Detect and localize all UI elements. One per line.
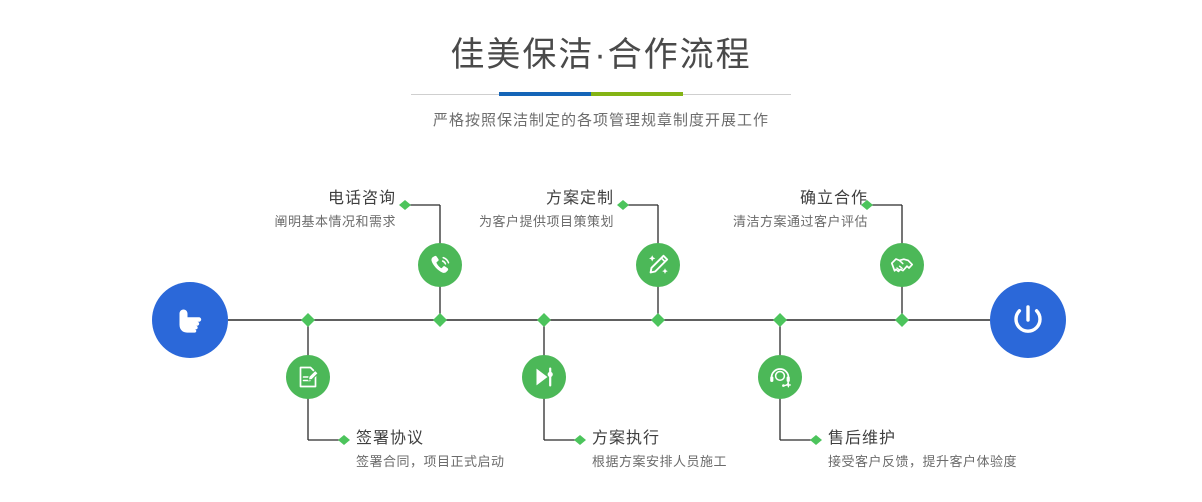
- label-step-4-title: 方案执行: [592, 428, 727, 450]
- marker-step-2-axis: [301, 313, 315, 327]
- label-step-1-desc: 阐明基本情况和需求: [274, 212, 396, 232]
- play-execute-icon: [531, 364, 557, 390]
- label-step-4: 方案执行 根据方案安排人员施工: [592, 428, 727, 472]
- phone-call-icon: [427, 252, 453, 278]
- headset-support-icon: [767, 364, 793, 390]
- marker-step-4-axis: [537, 313, 551, 327]
- marker-step-1-axis: [433, 313, 447, 327]
- node-step-4[interactable]: [522, 355, 566, 399]
- node-step-2[interactable]: [286, 355, 330, 399]
- handshake-icon: [889, 252, 915, 278]
- flow-diagram-page: 佳美保洁·合作流程 严格按照保洁制定的各项管理规章制度开展工作: [0, 0, 1202, 502]
- power-icon: [1007, 299, 1049, 341]
- marker-step-5-axis: [773, 313, 787, 327]
- flow-start-node[interactable]: [152, 282, 228, 358]
- label-step-5-desc: 接受客户反馈，提升客户体验度: [828, 452, 1017, 472]
- pen-design-icon: [645, 252, 671, 278]
- marker-step-5-label: [810, 435, 822, 445]
- label-step-3-desc: 为客户提供项目策策划: [479, 212, 614, 232]
- marker-step-4-label: [574, 435, 586, 445]
- marker-step-3-axis: [651, 313, 665, 327]
- document-sign-icon: [295, 364, 321, 390]
- label-step-6-desc: 清洁方案通过客户评估: [733, 212, 868, 232]
- label-step-5-title: 售后维护: [828, 428, 1017, 450]
- label-step-3-title: 方案定制: [479, 188, 614, 210]
- flow-end-node[interactable]: [990, 282, 1066, 358]
- process-flow: 电话咨询 阐明基本情况和需求 签署协议 签署合同，项目正式启动: [0, 0, 1202, 502]
- node-step-6[interactable]: [880, 243, 924, 287]
- label-step-6-title: 确立合作: [733, 188, 868, 210]
- label-step-4-desc: 根据方案安排人员施工: [592, 452, 727, 472]
- marker-step-3-label: [617, 200, 629, 210]
- label-step-2-desc: 签署合同，项目正式启动: [356, 452, 505, 472]
- flow-connectors: [0, 0, 1202, 502]
- marker-step-6-axis: [895, 313, 909, 327]
- label-step-5: 售后维护 接受客户反馈，提升客户体验度: [828, 428, 1017, 472]
- node-step-5[interactable]: [758, 355, 802, 399]
- label-step-6: 确立合作 清洁方案通过客户评估: [733, 188, 868, 232]
- marker-step-1-label: [399, 200, 411, 210]
- label-step-1: 电话咨询 阐明基本情况和需求: [274, 188, 396, 232]
- label-step-2-title: 签署协议: [356, 428, 505, 450]
- marker-step-2-label: [338, 435, 350, 445]
- pointing-hand-icon: [170, 300, 210, 340]
- node-step-3[interactable]: [636, 243, 680, 287]
- label-step-1-title: 电话咨询: [274, 188, 396, 210]
- label-step-3: 方案定制 为客户提供项目策策划: [479, 188, 614, 232]
- node-step-1[interactable]: [418, 243, 462, 287]
- label-step-2: 签署协议 签署合同，项目正式启动: [356, 428, 505, 472]
